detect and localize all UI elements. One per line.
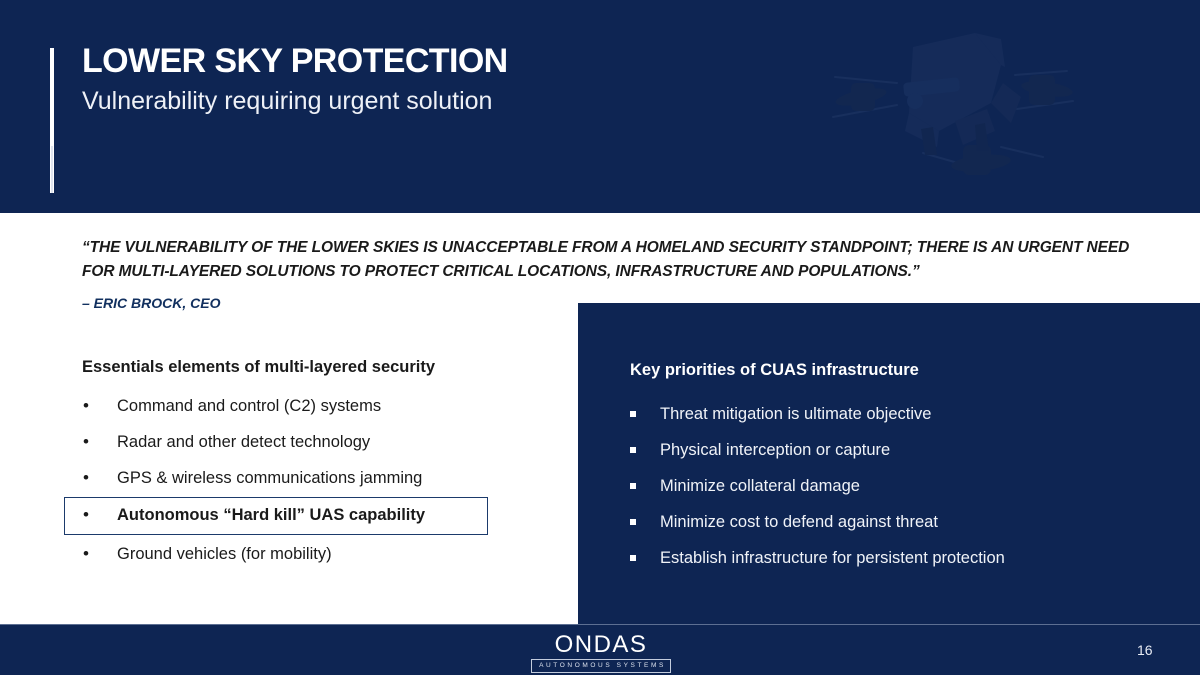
square-bullet-icon (630, 411, 636, 417)
list-item-label: GPS & wireless communications jamming (117, 460, 422, 496)
list-item-label: Establish infrastructure for persistent … (660, 540, 1005, 576)
slide-footer: ONDAS AUTONOMOUS SYSTEMS 16 (0, 624, 1200, 675)
list-item-label: Autonomous “Hard kill” UAS capability (117, 498, 425, 532)
essentials-heading: Essentials elements of multi-layered sec… (82, 358, 435, 377)
list-item: Minimize collateral damage (626, 468, 1186, 504)
logo-wordmark: ONDAS (531, 633, 671, 657)
list-item: Physical interception or capture (626, 432, 1186, 468)
dot-bullet-icon: • (83, 498, 89, 532)
list-item: • Command and control (C2) systems (64, 388, 494, 424)
list-item: Establish infrastructure for persistent … (626, 540, 1186, 576)
dot-bullet-icon: • (83, 388, 89, 424)
header-accent-line (50, 48, 54, 193)
quote-attribution: – ERIC BROCK, CEO (82, 295, 220, 311)
slide-header: LOWER SKY PROTECTION Vulnerability requi… (0, 0, 1200, 213)
slide: LOWER SKY PROTECTION Vulnerability requi… (0, 0, 1200, 675)
essentials-list: • Command and control (C2) systems • Rad… (64, 388, 494, 572)
key-priorities-heading: Key priorities of CUAS infrastructure (630, 361, 919, 380)
square-bullet-icon (630, 519, 636, 525)
quadcopter-drone-icon (805, 5, 1105, 210)
dot-bullet-icon: • (83, 424, 89, 460)
dot-bullet-icon: • (83, 460, 89, 496)
square-bullet-icon (630, 555, 636, 561)
list-item: • GPS & wireless communications jamming (64, 460, 494, 496)
list-item-label: Command and control (C2) systems (117, 388, 381, 424)
key-priorities-list: Threat mitigation is ultimate objective … (626, 396, 1186, 576)
list-item-label: Minimize collateral damage (660, 468, 860, 504)
list-item-label: Radar and other detect technology (117, 424, 370, 460)
logo-tagline: AUTONOMOUS SYSTEMS (531, 659, 671, 673)
list-item-label: Physical interception or capture (660, 432, 890, 468)
list-item: • Radar and other detect technology (64, 424, 494, 460)
page-number: 16 (1137, 642, 1153, 658)
list-item-label: Ground vehicles (for mobility) (117, 536, 332, 572)
page-title: LOWER SKY PROTECTION (82, 42, 508, 81)
key-priorities-panel: Key priorities of CUAS infrastructure Th… (578, 303, 1200, 624)
square-bullet-icon (630, 483, 636, 489)
list-item: • Ground vehicles (for mobility) (64, 536, 494, 572)
page-subtitle: Vulnerability requiring urgent solution (82, 87, 492, 116)
dot-bullet-icon: • (83, 536, 89, 572)
list-item: Threat mitigation is ultimate objective (626, 396, 1186, 432)
list-item-label: Minimize cost to defend against threat (660, 504, 938, 540)
ondas-logo: ONDAS AUTONOMOUS SYSTEMS (531, 633, 671, 673)
list-item-label: Threat mitigation is ultimate objective (660, 396, 931, 432)
square-bullet-icon (630, 447, 636, 453)
list-item-highlighted: • Autonomous “Hard kill” UAS capability (64, 497, 488, 535)
list-item: Minimize cost to defend against threat (626, 504, 1186, 540)
pull-quote: “THE VULNERABILITY OF THE LOWER SKIES IS… (82, 236, 1142, 284)
